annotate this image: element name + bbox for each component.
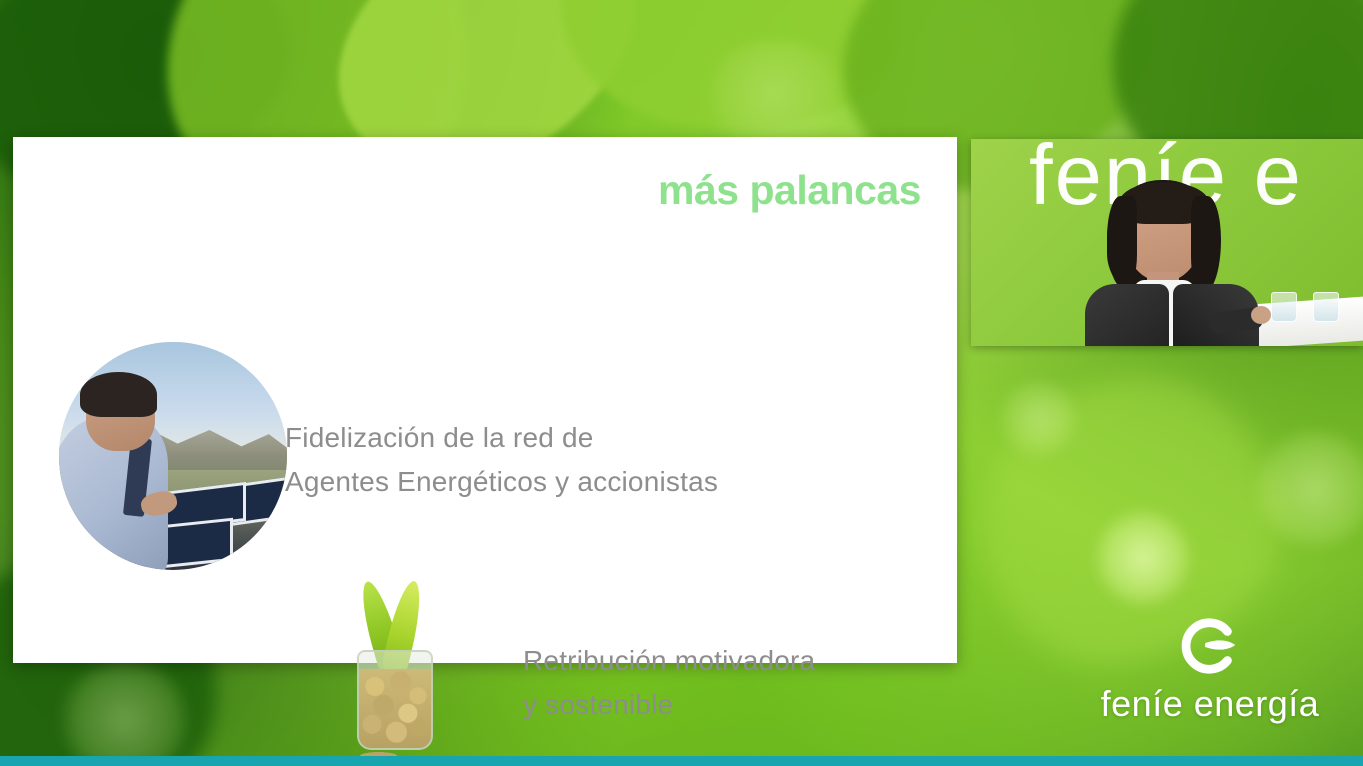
agent-photo-icon [59, 342, 287, 570]
bullet-two-line-1: Retribución motivadora [523, 639, 943, 683]
leaf-blob-icon [545, 0, 915, 152]
fenie-leaf-c-logo-icon [1179, 615, 1241, 677]
bullet-two: Retribución motivadora y sostenible [523, 639, 943, 727]
water-glass-icon [1313, 292, 1339, 322]
presenter-video-panel[interactable]: feníe e [971, 139, 1363, 346]
bottom-accent-bar [0, 756, 1363, 766]
bullet-one: Fidelización de la red de Agentes Energé… [285, 416, 905, 504]
bokeh-highlight-icon [1255, 430, 1363, 548]
slide-title: más palancas [658, 167, 921, 214]
webinar-stage: más palancas Fidelización de la red de A… [0, 0, 1363, 766]
bokeh-highlight-icon [1095, 510, 1191, 606]
bullet-two-line-2: y sostenible [523, 683, 943, 727]
brand-logo-text: feníe energía [1085, 683, 1335, 725]
bokeh-highlight-icon [1000, 380, 1078, 456]
bokeh-highlight-icon [700, 40, 850, 150]
presentation-slide: más palancas Fidelización de la red de A… [13, 137, 957, 663]
water-glass-icon [1271, 292, 1297, 322]
bullet-one-line-2: Agentes Energéticos y accionistas [285, 460, 905, 504]
bokeh-highlight-icon [60, 660, 190, 766]
presenter-figure-icon [1081, 180, 1259, 346]
coin-jar-plant-icon [325, 580, 471, 766]
brand-logo: feníe energía [1085, 615, 1335, 725]
bullet-one-line-1: Fidelización de la red de [285, 416, 905, 460]
